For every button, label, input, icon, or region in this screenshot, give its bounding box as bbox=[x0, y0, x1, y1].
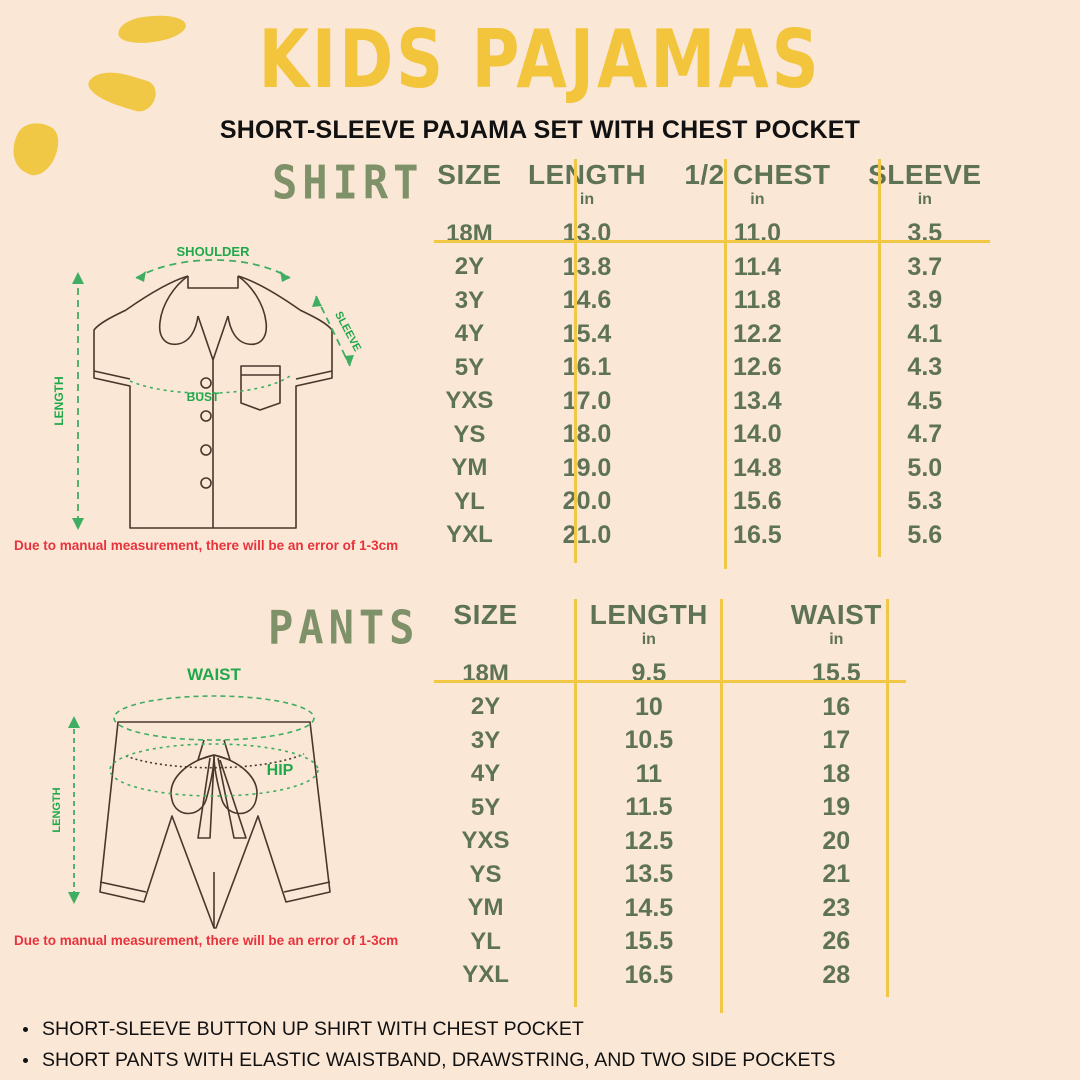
table-row: 18M13.011.03.5 bbox=[428, 217, 998, 251]
shirt-vline-2 bbox=[724, 159, 727, 569]
size-cell: YS bbox=[428, 858, 543, 892]
pants-header-rule bbox=[434, 680, 906, 683]
shirt-table-body: 18M13.011.03.52Y13.811.43.73Y14.611.83.9… bbox=[428, 217, 998, 552]
pants-col-header-waist: WAIST bbox=[755, 595, 918, 631]
size-cell: YL bbox=[428, 925, 543, 959]
pants-section-label: PANTS bbox=[268, 601, 419, 655]
waist-measure-line bbox=[114, 696, 314, 740]
sleeve-label: SLEEVE bbox=[332, 310, 363, 354]
shoulder-label: SHOULDER bbox=[177, 244, 251, 259]
table-row: 2Y1016 bbox=[428, 691, 918, 725]
measurement-cell: 18.0 bbox=[511, 418, 663, 452]
table-row: 2Y13.811.43.7 bbox=[428, 251, 998, 285]
measurement-cell: 21 bbox=[755, 858, 918, 892]
size-cell: 2Y bbox=[428, 251, 511, 285]
pants-diagram: WAIST HIP LENGTH bbox=[38, 660, 408, 940]
table-row: YXS17.013.44.5 bbox=[428, 385, 998, 419]
shirt-table-head: SIZE LENGTH 1/2 CHEST SLEEVE in in in bbox=[428, 155, 998, 217]
measurement-cell: 4.5 bbox=[852, 385, 998, 419]
size-cell: YM bbox=[428, 452, 511, 486]
pants-table-body: 18M9.515.52Y10163Y10.5174Y11185Y11.519YX… bbox=[428, 657, 918, 992]
shirt-unit-size bbox=[428, 191, 511, 217]
pants-size-table: SIZE LENGTH WAIST in in 18M9.515.52Y1016… bbox=[428, 595, 918, 992]
pants-vline-3 bbox=[886, 599, 889, 997]
measurement-cell: 3.9 bbox=[852, 284, 998, 318]
measurement-cell: 20.0 bbox=[511, 485, 663, 519]
shirt-section-label: SHIRT bbox=[272, 156, 423, 210]
table-row: 3Y10.517 bbox=[428, 724, 918, 758]
pants-unit-waist: in bbox=[755, 631, 918, 657]
pants-col-header-size: SIZE bbox=[428, 595, 543, 631]
measurement-cell: 3.5 bbox=[852, 217, 998, 251]
measurement-cell: 11.0 bbox=[663, 217, 851, 251]
pants-header-row-units: in in bbox=[428, 631, 918, 657]
feature-item: SHORT PANTS WITH ELASTIC WAISTBAND, DRAW… bbox=[18, 1045, 1058, 1076]
size-cell: 2Y bbox=[428, 691, 543, 725]
measurement-cell: 12.2 bbox=[663, 318, 851, 352]
measurement-cell: 5.0 bbox=[852, 452, 998, 486]
measurement-cell: 4.7 bbox=[852, 418, 998, 452]
measurement-cell: 4.1 bbox=[852, 318, 998, 352]
shirt-header-row-units: in in in bbox=[428, 191, 998, 217]
shirt-header-rule bbox=[434, 240, 990, 243]
measurement-cell: 12.6 bbox=[663, 351, 851, 385]
size-cell: YXL bbox=[428, 519, 511, 553]
hip-label: HIP bbox=[267, 762, 294, 779]
size-cell: YL bbox=[428, 485, 511, 519]
measurement-cell: 16 bbox=[755, 691, 918, 725]
shirt-size-table: SIZE LENGTH 1/2 CHEST SLEEVE in in in 18… bbox=[428, 155, 998, 552]
measurement-cell: 18 bbox=[755, 758, 918, 792]
pants-unit-size bbox=[428, 631, 543, 657]
measurement-cell: 3.7 bbox=[852, 251, 998, 285]
features-list: SHORT-SLEEVE BUTTON UP SHIRT WITH CHEST … bbox=[18, 1014, 1058, 1076]
measurement-cell: 14.8 bbox=[663, 452, 851, 486]
shirt-diagram: SHOULDER SLEEVE BUST LENGTH bbox=[38, 238, 408, 538]
measurement-cell: 19 bbox=[755, 791, 918, 825]
waist-label: WAIST bbox=[187, 665, 241, 684]
measurement-cell: 13.4 bbox=[663, 385, 851, 419]
size-cell: YS bbox=[428, 418, 511, 452]
shirt-col-header-half-chest: 1/2 CHEST bbox=[663, 155, 851, 191]
size-cell: YM bbox=[428, 892, 543, 926]
shirt-vline-1 bbox=[574, 159, 577, 563]
measurement-cell: 11.4 bbox=[663, 251, 851, 285]
table-row: 3Y14.611.83.9 bbox=[428, 284, 998, 318]
table-row: YXL21.016.55.6 bbox=[428, 519, 998, 553]
pants-disclaimer: Due to manual measurement, there will be… bbox=[14, 933, 398, 948]
measurement-cell: 14.0 bbox=[663, 418, 851, 452]
pants-length-label: LENGTH bbox=[51, 787, 63, 832]
measurement-cell: 17.0 bbox=[511, 385, 663, 419]
shirt-unit-length: in bbox=[511, 191, 663, 217]
table-row: 5Y16.112.64.3 bbox=[428, 351, 998, 385]
measurement-cell: 13.0 bbox=[511, 217, 663, 251]
size-cell: 18M bbox=[428, 657, 543, 691]
measurement-cell: 28 bbox=[755, 959, 918, 993]
table-row: YM14.523 bbox=[428, 892, 918, 926]
measurement-cell: 23 bbox=[755, 892, 918, 926]
measurement-cell: 14.6 bbox=[511, 284, 663, 318]
size-cell: 4Y bbox=[428, 758, 543, 792]
table-row: 18M9.515.5 bbox=[428, 657, 918, 691]
pants-vline-1 bbox=[574, 599, 577, 1007]
size-cell: 5Y bbox=[428, 791, 543, 825]
shoulder-measure-line bbox=[136, 260, 290, 278]
shirt-disclaimer: Due to manual measurement, there will be… bbox=[14, 538, 398, 553]
size-cell: YXS bbox=[428, 385, 511, 419]
shirt-col-header-size: SIZE bbox=[428, 155, 511, 191]
shirt-col-header-sleeve: SLEEVE bbox=[852, 155, 998, 191]
page-title: KIDS PAJAMAS bbox=[22, 14, 1059, 108]
measurement-cell: 21.0 bbox=[511, 519, 663, 553]
measurement-cell: 15.5 bbox=[755, 657, 918, 691]
pants-vline-2 bbox=[720, 599, 723, 1013]
measurement-cell: 16.5 bbox=[663, 519, 851, 553]
table-row: YL15.526 bbox=[428, 925, 918, 959]
size-cell: 18M bbox=[428, 217, 511, 251]
feature-item: SHORT-SLEEVE BUTTON UP SHIRT WITH CHEST … bbox=[18, 1014, 1058, 1045]
size-cell: 5Y bbox=[428, 351, 511, 385]
measurement-cell: 5.6 bbox=[852, 519, 998, 553]
shirt-unit-half-chest: in bbox=[663, 191, 851, 217]
measurement-cell: 15.6 bbox=[663, 485, 851, 519]
pants-table-head: SIZE LENGTH WAIST in in bbox=[428, 595, 918, 657]
bust-label: BUST bbox=[187, 390, 220, 404]
page-subtitle: SHORT-SLEEVE PAJAMA SET WITH CHEST POCKE… bbox=[0, 116, 1080, 145]
size-cell: YXS bbox=[428, 825, 543, 859]
measurement-cell: 5.3 bbox=[852, 485, 998, 519]
measurement-cell: 11.8 bbox=[663, 284, 851, 318]
measurement-cell: 19.0 bbox=[511, 452, 663, 486]
shirt-vline-3 bbox=[878, 159, 881, 557]
table-row: YXL16.528 bbox=[428, 959, 918, 993]
table-row: YL20.015.65.3 bbox=[428, 485, 998, 519]
measurement-cell: 26 bbox=[755, 925, 918, 959]
size-cell: 4Y bbox=[428, 318, 511, 352]
shirt-col-header-length: LENGTH bbox=[511, 155, 663, 191]
measurement-cell: 4.3 bbox=[852, 351, 998, 385]
size-cell: YXL bbox=[428, 959, 543, 993]
pants-header-row-main: SIZE LENGTH WAIST bbox=[428, 595, 918, 631]
measurement-cell: 15.4 bbox=[511, 318, 663, 352]
shirt-header-row-main: SIZE LENGTH 1/2 CHEST SLEEVE bbox=[428, 155, 998, 191]
shirt-unit-sleeve: in bbox=[852, 191, 998, 217]
page-header: KIDS PAJAMAS SHORT-SLEEVE PAJAMA SET WIT… bbox=[0, 0, 1080, 145]
table-row: 4Y15.412.24.1 bbox=[428, 318, 998, 352]
size-cell: 3Y bbox=[428, 284, 511, 318]
measurement-cell: 13.8 bbox=[511, 251, 663, 285]
table-row: YS13.521 bbox=[428, 858, 918, 892]
measurement-cell: 17 bbox=[755, 724, 918, 758]
table-row: YS18.014.04.7 bbox=[428, 418, 998, 452]
table-row: YXS12.520 bbox=[428, 825, 918, 859]
measurement-cell: 16.1 bbox=[511, 351, 663, 385]
table-row: 4Y1118 bbox=[428, 758, 918, 792]
table-row: 5Y11.519 bbox=[428, 791, 918, 825]
table-row: YM19.014.85.0 bbox=[428, 452, 998, 486]
measurement-cell: 20 bbox=[755, 825, 918, 859]
shirt-length-label: LENGTH bbox=[52, 376, 66, 425]
size-cell: 3Y bbox=[428, 724, 543, 758]
